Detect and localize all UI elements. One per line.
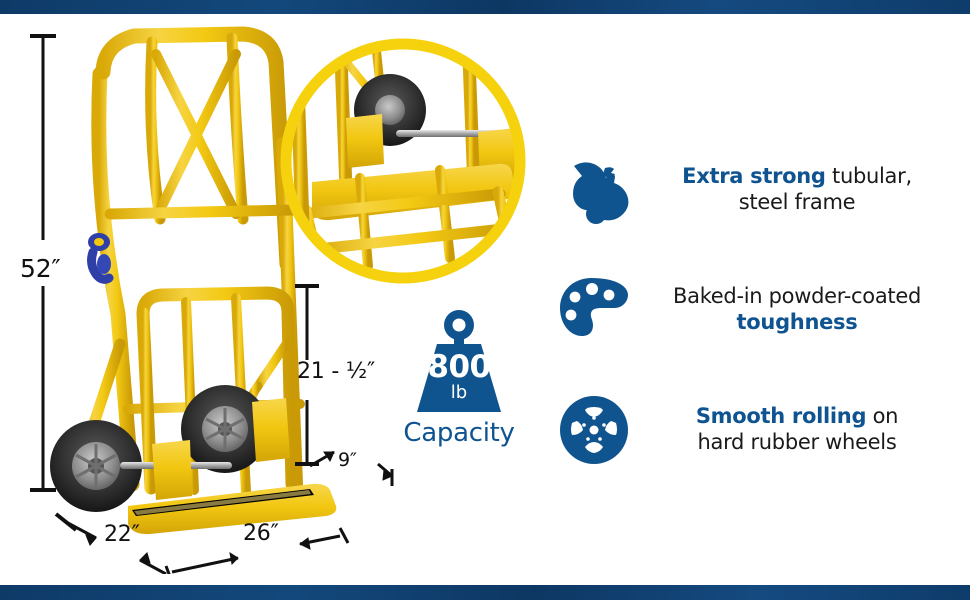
bottom-navy-band <box>0 585 970 600</box>
capacity-number: 800 <box>398 352 520 383</box>
dimension-label-frame-height: 21 - ½″ <box>297 359 375 384</box>
weight-icon: 800 lb <box>398 308 520 418</box>
feature-rest-2: Baked-in powder-coated <box>673 284 921 308</box>
feature-bold-2: toughness <box>737 310 858 334</box>
bicep-flex-icon <box>548 154 640 226</box>
capacity-unit: lb <box>398 384 520 402</box>
feature-text-smooth-rolling: Smooth rolling on hard rubber wheels <box>640 404 960 455</box>
dimension-label-nose-plate-depth: 9″ <box>338 449 357 471</box>
dimension-label-overall-width: 26″ <box>243 521 279 546</box>
feature-rest-3: on <box>866 404 898 428</box>
feature-bold-3: Smooth rolling <box>696 404 866 428</box>
wheel-icon <box>548 394 640 466</box>
feature-row-strong-frame: Extra strong tubular, steel frame <box>548 130 960 250</box>
feature-list: Extra strong tubular, steel frame <box>548 130 960 490</box>
feature-rest-1: tubular, <box>826 164 912 188</box>
dimension-label-overall-height: 52″ <box>20 254 61 283</box>
hand-truck-illustration <box>0 14 545 574</box>
top-navy-band <box>0 0 970 14</box>
feature-rest-1b: steel frame <box>739 190 856 214</box>
nose-plate-detail-magnifier <box>286 28 524 278</box>
feature-bold-1: Extra strong <box>682 164 825 188</box>
feature-row-smooth-rolling: Smooth rolling on hard rubber wheels <box>548 370 960 490</box>
feature-rest-3b: hard rubber wheels <box>698 430 897 454</box>
blue-strap-detail <box>88 233 111 279</box>
feature-text-strong-frame: Extra strong tubular, steel frame <box>640 164 960 215</box>
feature-text-powder-coat: Baked-in powder-coated toughness <box>640 284 960 335</box>
paint-palette-icon <box>548 276 640 344</box>
dimension-label-overall-depth: 22″ <box>104 522 140 547</box>
capacity-badge: 800 lb Capacity <box>398 308 520 446</box>
infographic-canvas: 52″ 21 - ½″ 9″ 22″ 26″ 800 lb Capacity <box>0 0 970 600</box>
feature-row-powder-coat: Baked-in powder-coated toughness <box>548 250 960 370</box>
capacity-label: Capacity <box>398 420 520 446</box>
